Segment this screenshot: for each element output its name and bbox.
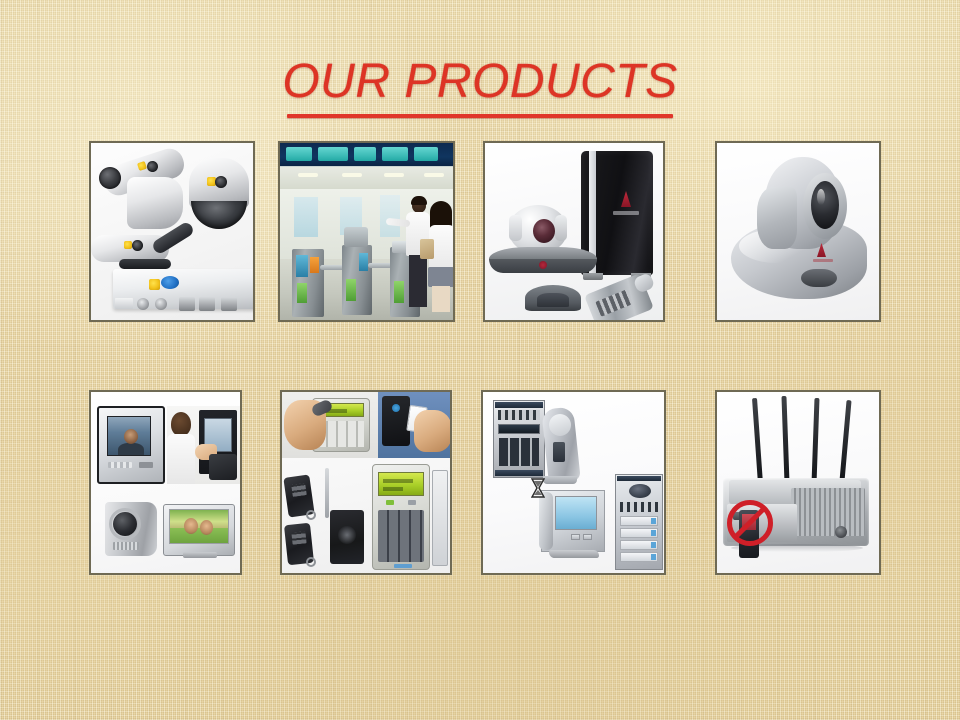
product-tile-alarm-access-control-keypad[interactable]: Alarm & Access Control Keypad [280, 390, 452, 575]
handset-earpiece [549, 414, 571, 436]
indoor-tv-stand [183, 552, 217, 558]
person-2-legs [432, 286, 450, 312]
dvr-brand-logo-blue [161, 276, 179, 289]
tv-scene-child-1 [184, 518, 198, 534]
directory-key-row [620, 502, 658, 512]
product-photo-cctv-surveillance-cameras [91, 143, 253, 320]
station-top-strip [495, 402, 543, 408]
station-display [498, 424, 540, 434]
product-tile-turnstile-access-gates[interactable]: Turnstile Access Control Gates [278, 141, 455, 322]
signage-panel-3 [354, 147, 376, 161]
directory-indicator-1 [651, 518, 656, 524]
dvr-bnc-connector-1 [137, 298, 149, 310]
outdoor-station-lens-ring [109, 508, 141, 540]
person-2-skirt [428, 267, 453, 287]
tv-scene-child-2 [200, 520, 213, 535]
dome-inner-lens [215, 176, 227, 188]
product-photo-video-door-phone [91, 392, 240, 573]
product-tile-audio-video-door-intercom[interactable]: Audio / Video Door Intercom [481, 390, 666, 575]
station-bottom-strip [495, 470, 543, 476]
product-photo-mobile-signal-jammer [717, 392, 879, 573]
ptz-head-shoulder [757, 187, 797, 249]
product-photo-alarm-access-control-keypad [282, 392, 450, 573]
alarm-lcd-line-1 [383, 479, 413, 483]
product-photo-ptz-conference-camera [717, 143, 879, 320]
slide-canvas: OUR PRODUCTS [0, 0, 960, 720]
ptz-brand-text [813, 259, 833, 262]
page-title: OUR PRODUCTS [282, 58, 677, 106]
dvr-rj45-port-1 [179, 297, 195, 311]
person-1-hair [411, 196, 427, 205]
indoor-monitor-screen [107, 416, 151, 456]
dvr-brand-logo [149, 279, 160, 290]
bullet-camera-1-lens [99, 167, 121, 189]
product-tile-video-door-phone[interactable]: Video Door Phone / Intercom [89, 390, 242, 575]
user-torso [167, 434, 195, 484]
ceiling-light-4 [424, 173, 444, 177]
alarm-panel-indicator-2 [408, 500, 416, 505]
dvr-rj45-port-3 [221, 297, 237, 311]
person-2-bag [420, 239, 434, 259]
panel-side-sleeve [432, 470, 448, 566]
title-underline [287, 114, 673, 118]
vc-ptz-camera-lens [533, 219, 555, 243]
turnstile-1-reader [296, 255, 308, 277]
bullet-camera-2-iris [132, 240, 143, 251]
product-photo-video-conferencing-system [485, 143, 663, 320]
hourglass-busy-cursor [531, 478, 545, 498]
desktop-phone-screen [555, 496, 597, 530]
desktop-phone-button-1 [583, 534, 592, 540]
user-head [171, 412, 191, 436]
dvr-rj45-port-2 [199, 297, 215, 311]
ptz-lens-glint [817, 189, 825, 205]
jammer-power-port [835, 526, 847, 538]
ptz-camera-lens [811, 181, 839, 229]
ceiling-light-3 [384, 173, 404, 177]
user-sleeve [209, 454, 237, 480]
indoor-monitor-brand [139, 462, 153, 468]
visitor-shoulders [118, 443, 144, 456]
desktop-phone-handset [539, 492, 553, 550]
directory-top-strip [617, 476, 661, 481]
handset-keypad [553, 442, 565, 462]
proximity-reader-logo [338, 526, 356, 544]
desktop-phone-button-2 [571, 534, 580, 540]
fob-2-keyring [306, 557, 316, 567]
person-1-legs [409, 255, 427, 307]
alarm-panel-indicator-1 [386, 500, 394, 505]
indoor-monitor-buttons [108, 462, 132, 468]
signage-panel-4 [382, 147, 408, 161]
indoor-tv-monitor-screen [169, 509, 229, 544]
vc-ptz-side-panel-left [509, 215, 522, 241]
ceiling-light-2 [342, 173, 362, 177]
alarm-panel-brand [394, 564, 412, 568]
station-keypad [499, 438, 539, 466]
bullet-camera-1-mount [127, 177, 183, 229]
dvr-bnc-connector-2 [155, 298, 167, 310]
turnstile-1-indicator [310, 257, 319, 273]
ceiling-light-1 [298, 173, 318, 177]
directory-indicator-2 [651, 530, 656, 536]
desktop-phone-stand [549, 550, 599, 558]
camera-bracket-arm [119, 259, 171, 269]
turnstile-2-top [344, 227, 368, 247]
fob-2-buttons [291, 531, 306, 544]
signage-panel-5 [414, 147, 438, 161]
product-tile-mobile-signal-jammer[interactable]: Mobile Signal Jammer [715, 390, 881, 575]
product-photo-turnstile-access-gates [280, 143, 453, 320]
directory-indicator-3 [651, 542, 656, 548]
ceiling [280, 167, 453, 189]
station-speaker-grille [498, 410, 540, 420]
title-block: OUR PRODUCTS [0, 58, 960, 118]
vc-ptz-side-panel-right [555, 215, 567, 241]
visitor-face [124, 429, 138, 444]
dvr-label-strip [115, 298, 133, 309]
alarm-panel-keypad [378, 510, 424, 562]
product-photo-audio-video-door-intercom [483, 392, 664, 573]
signage-panel-1 [286, 147, 312, 161]
turnstile-2-reader [359, 253, 368, 271]
brand-logo-bullet-2 [124, 241, 132, 249]
vc-codec-brand-text [613, 211, 639, 215]
card-reader-indicator [392, 404, 400, 412]
directory-indicator-4 [651, 554, 656, 560]
ptz-ir-sensor [801, 269, 837, 287]
vc-base-indicator [539, 261, 547, 269]
tv-scene-grass [170, 528, 228, 544]
receiver-antenna [325, 468, 329, 518]
turnstile-1-status-light [297, 283, 307, 303]
fob-1-buttons [291, 483, 307, 497]
handset-cord-base [543, 476, 577, 484]
wall-poster-1 [294, 197, 318, 237]
hand-holding-card [414, 410, 450, 452]
vc-mic-inner [537, 293, 569, 307]
turnstile-3-status-light [394, 281, 404, 303]
jammer-heatsink-fins [791, 488, 865, 536]
fob-1-keyring [306, 510, 316, 520]
product-tile-ptz-conference-camera[interactable]: PTZ Conference Camera [715, 141, 881, 322]
outdoor-station-speaker [113, 542, 139, 550]
product-tile-cctv-surveillance-cameras[interactable]: CCTV Surveillance Cameras & DVR [89, 141, 255, 322]
directory-speaker [629, 484, 651, 498]
wall-poster-3 [380, 195, 400, 237]
alarm-panel-lcd [378, 472, 424, 496]
product-tile-video-conferencing-system[interactable]: Video Conferencing System [483, 141, 665, 322]
turnstile-2-status-light [346, 279, 356, 301]
alarm-lcd-line-2 [383, 487, 403, 491]
signage-panel-2 [318, 147, 348, 161]
vc-codec-foot-left [583, 273, 603, 280]
